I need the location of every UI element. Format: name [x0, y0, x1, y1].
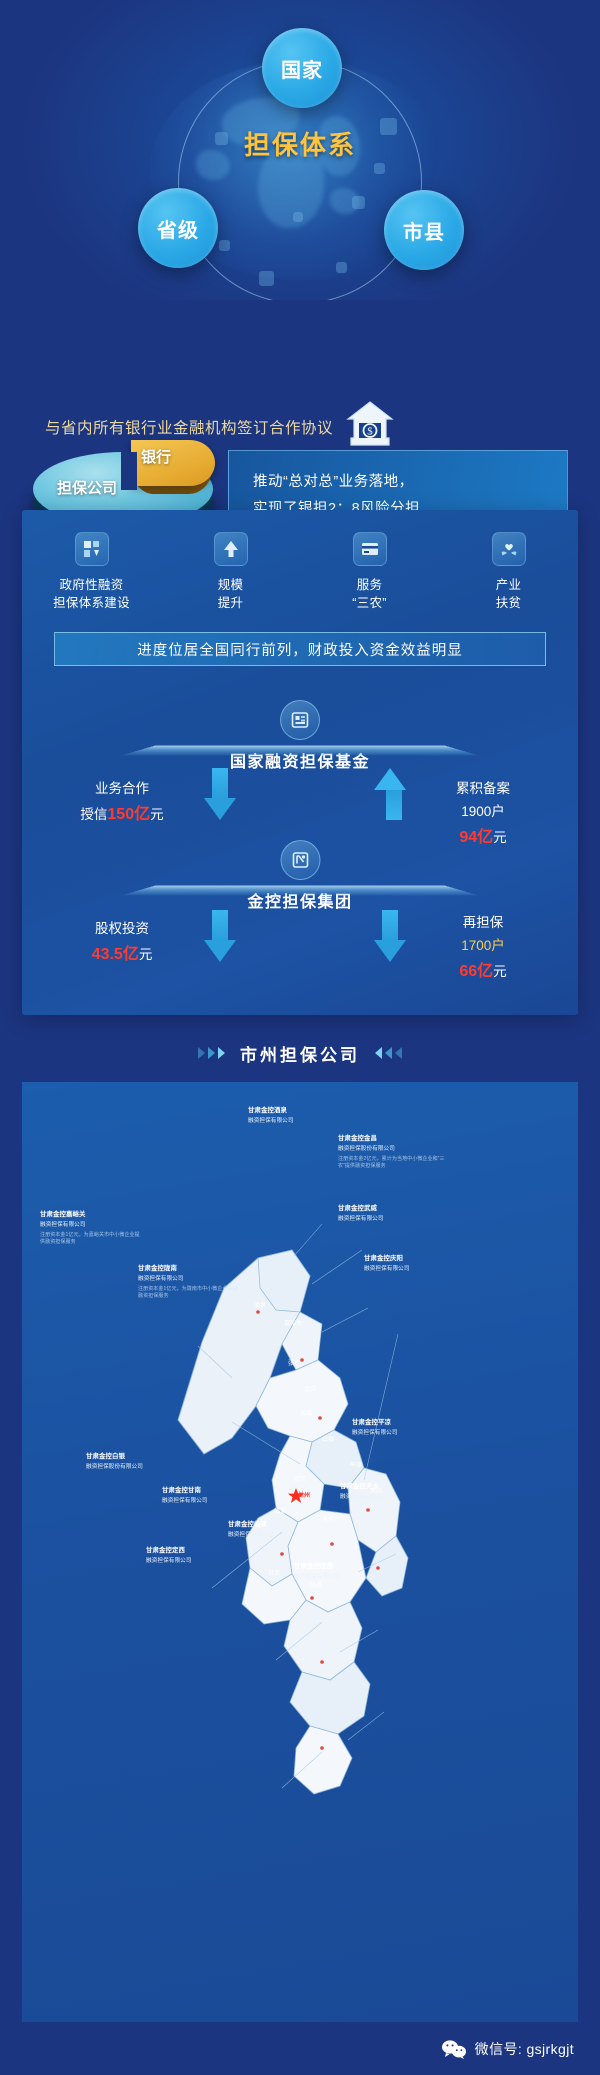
stat-amount: 150亿: [107, 806, 150, 823]
pillar-item[interactable]: 产业 扶贫: [439, 532, 578, 612]
chevron-right-icon: [196, 1045, 230, 1061]
stat-amount: 94亿: [459, 829, 493, 846]
arrow-down-reguarantee: [374, 910, 406, 962]
map-company-label: 甘肃金控庆阳 融资担保有限公司: [364, 1254, 468, 1274]
company-suffix: 融资担保有限公司: [294, 1574, 340, 1580]
map-city-label: 甘南: [268, 1568, 280, 1577]
hub-holding-group[interactable]: 金控担保集团: [247, 840, 352, 912]
group-icon: [280, 840, 320, 880]
company-name: 甘肃金控定西: [146, 1546, 250, 1556]
map-city-label: 临夏: [274, 1506, 286, 1515]
pillar-label-line1: 规模: [218, 578, 244, 592]
company-suffix: 融资担保有限公司: [364, 1266, 410, 1272]
building-blocks-icon: [75, 532, 109, 566]
stat-reguarantee: 再担保 1700户 66亿元: [418, 912, 548, 985]
pillar-item[interactable]: 服务 “三农”: [300, 532, 439, 612]
pillar-label: 政府性融资 担保体系建设: [53, 576, 130, 612]
stat-unit: 元: [493, 964, 507, 979]
node-country[interactable]: 国家: [262, 28, 342, 108]
map-company-label: 甘肃金控嘉峪关 融资担保有限公司 注册资本金1亿元，为嘉峪关市中小微企业提供融资…: [40, 1210, 144, 1247]
achievements-panel: 政府性融资 担保体系建设 规模 提升: [22, 510, 578, 1015]
company-suffix: 融资担保有限公司: [338, 1216, 384, 1222]
node-province-label: 省级: [157, 214, 199, 243]
company-name: 甘肃金控陇西: [294, 1562, 398, 1572]
pillar-label-line1: 服务: [357, 578, 383, 592]
four-pillars-row: 政府性融资 担保体系建设 规模 提升: [22, 532, 578, 612]
up-arrow-icon: [214, 532, 248, 566]
fund-icon: [280, 700, 320, 740]
pie-label-guarantee-company: 担保公司: [57, 477, 117, 498]
company-note: 注册资本金1亿元，为陇南市中小微企业提供融资担保服务: [138, 1286, 242, 1302]
map-city-label: 白银: [322, 1434, 334, 1443]
company-suffix: 融资担保有限公司: [228, 1532, 274, 1538]
map-city-label: 酒泉: [254, 1300, 266, 1309]
svg-text:$: $: [367, 426, 373, 438]
map-city-label: 嘉峪关: [284, 1318, 302, 1327]
node-city-label: 市县: [403, 216, 445, 245]
arrow-up-filing: [374, 768, 406, 820]
pillar-label-line2: 提升: [218, 596, 244, 610]
wechat-id-text: 微信号: gsjrkgjt: [475, 2039, 574, 2059]
bank-building-icon: $: [345, 400, 395, 448]
node-city[interactable]: 市县: [384, 190, 464, 270]
map-capital-label: 兰州: [298, 1490, 310, 1499]
map-company-label: 甘肃金控酒泉 融资担保有限公司: [248, 1106, 344, 1126]
company-suffix: 融资担保有限公司: [248, 1118, 294, 1124]
pillar-label-line2: 担保体系建设: [53, 596, 130, 610]
stat-title: 股权投资: [62, 918, 182, 941]
company-name: 甘肃金控白银: [86, 1452, 190, 1462]
company-name: 甘肃金控武威: [338, 1204, 442, 1214]
pillar-item[interactable]: 规模 提升: [161, 532, 300, 612]
stat-title: 再担保: [418, 912, 548, 935]
map-company-label: 甘肃金控临夏 融资担保有限公司: [228, 1520, 332, 1540]
stat-business-cooperation: 业务合作 授信150亿元: [62, 778, 182, 828]
arrow-down-equity: [204, 910, 236, 962]
company-name: 甘肃金控金昌: [338, 1134, 448, 1144]
company-suffix: 融资担保有限公司: [340, 1494, 386, 1500]
map-company-label: 甘肃金控平凉 融资担保有限公司: [352, 1418, 456, 1438]
stat-title: 累积备案: [418, 778, 548, 801]
hero-section: 担保体系 国家 省级 市县: [0, 0, 600, 300]
stat-count: 1700户: [418, 935, 548, 958]
stat-unit: 元: [139, 947, 153, 962]
arrow-down-business: [204, 768, 236, 820]
map-company-label: 甘肃金控武威 融资担保有限公司: [338, 1204, 442, 1224]
map-company-label: 甘肃金控白银 融资担保股份有限公司: [86, 1452, 190, 1472]
pillar-label: 规模 提升: [218, 576, 244, 612]
map-company-label: 甘肃金控甘南 融资担保有限公司: [162, 1486, 266, 1506]
map-city-label: 张掖: [288, 1358, 300, 1367]
city-section-title: 市州担保公司: [240, 1041, 360, 1066]
hub-platform: [121, 746, 479, 756]
pie-notch: [121, 452, 137, 490]
company-suffix: 融资担保有限公司: [138, 1276, 184, 1282]
map-company-label: 甘肃金控陇西 融资担保有限公司: [294, 1562, 398, 1582]
node-country-label: 国家: [281, 54, 323, 83]
stat-unit: 元: [150, 807, 164, 822]
stat-equity-investment: 股权投资 43.5亿元: [62, 918, 182, 968]
bank-agreement-section: 与省内所有银行业金融机构签订合作协议 $ 银行 担保公司 推动“总对总”业务落地…: [0, 300, 600, 505]
bank-headline: 与省内所有银行业金融机构签订合作协议: [45, 416, 333, 438]
page-title: 担保体系: [0, 125, 600, 162]
progress-ribbon: 进度位居全国同行前列，财政投入资金效益明显: [54, 632, 546, 666]
hub-platform: [121, 886, 479, 896]
company-name: 甘肃金控临夏: [228, 1520, 332, 1530]
company-name: 甘肃金控平凉: [352, 1418, 456, 1428]
map-company-label: 甘肃金控陇南 融资担保有限公司 注册资本金1亿元，为陇南市中小微企业提供融资担保…: [138, 1264, 242, 1301]
map-company-label: 甘肃金控金昌 融资担保股份有限公司 注册资本金2亿元，累计为当地中小微企业和“三…: [338, 1134, 448, 1171]
map-city-label: 平凉: [350, 1460, 362, 1469]
map-city-label: 定西: [294, 1474, 306, 1483]
stat-count: 1900户: [418, 801, 548, 824]
map-city-label: 金昌: [304, 1384, 316, 1393]
company-suffix: 融资担保有限公司: [162, 1498, 208, 1504]
company-name: 甘肃金控天水: [340, 1482, 444, 1492]
footer-bar: 微信号: gsjrkgjt: [0, 2022, 600, 2075]
pillar-label-line1: 产业: [496, 578, 522, 592]
pillar-label: 产业 扶贫: [496, 576, 522, 612]
pillar-label-line1: 政府性融资: [59, 578, 123, 592]
company-name: 甘肃金控陇南: [138, 1264, 242, 1274]
company-name: 甘肃金控嘉峪关: [40, 1210, 144, 1220]
company-suffix: 融资担保股份有限公司: [338, 1146, 395, 1152]
stat-title: 业务合作: [62, 778, 182, 801]
company-name: 甘肃金控酒泉: [248, 1106, 344, 1116]
company-note: 注册资本金1亿元，为嘉峪关市中小微企业提供融资担保服务: [40, 1232, 144, 1248]
map-company-label: 甘肃金控天水 融资担保有限公司: [340, 1482, 444, 1502]
stat-unit: 元: [493, 830, 507, 845]
stat-amount: 66亿: [459, 963, 493, 980]
hands-heart-icon: [492, 532, 526, 566]
chevron-left-icon: [370, 1045, 404, 1061]
node-province[interactable]: 省级: [138, 188, 218, 268]
company-suffix: 融资担保有限公司: [40, 1222, 86, 1228]
company-name: 甘肃金控庆阳: [364, 1254, 468, 1264]
company-name: 甘肃金控甘南: [162, 1486, 266, 1496]
stat-amount: 43.5亿: [92, 946, 139, 963]
map-city-label: 武威: [300, 1408, 312, 1417]
company-suffix: 融资担保有限公司: [146, 1558, 192, 1564]
callout-line-1: 推动“总对总”业务落地，: [253, 470, 567, 491]
company-suffix: 融资担保股份有限公司: [86, 1464, 143, 1470]
pillar-label-line2: 扶贫: [496, 596, 522, 610]
pillar-label-line2: “三农”: [352, 596, 387, 610]
wechat-icon: [441, 2039, 467, 2059]
gansu-map-section: 酒泉 嘉峪关 张掖 金昌 武威 白银 定西 平凉 庆阳 临夏 天水 甘南 陇南 …: [22, 1082, 578, 2022]
card-icon: [353, 532, 387, 566]
pillar-item[interactable]: 政府性融资 担保体系建设: [22, 532, 161, 612]
city-companies-header: 市州担保公司: [0, 1030, 600, 1076]
hub-national-fund[interactable]: 国家融资担保基金: [230, 700, 370, 772]
company-suffix: 融资担保有限公司: [352, 1430, 398, 1436]
pillar-label: 服务 “三农”: [352, 576, 387, 612]
stat-prefix: 授信: [80, 807, 107, 822]
company-note: 注册资本金2亿元，累计为当地中小微企业和“三农”提供融资担保服务: [338, 1156, 448, 1172]
stat-cumulative-filing: 累积备案 1900户 94亿元: [418, 778, 548, 851]
pie-label-bank: 银行: [141, 446, 171, 467]
map-company-label: 甘肃金控定西 融资担保有限公司: [146, 1546, 250, 1566]
